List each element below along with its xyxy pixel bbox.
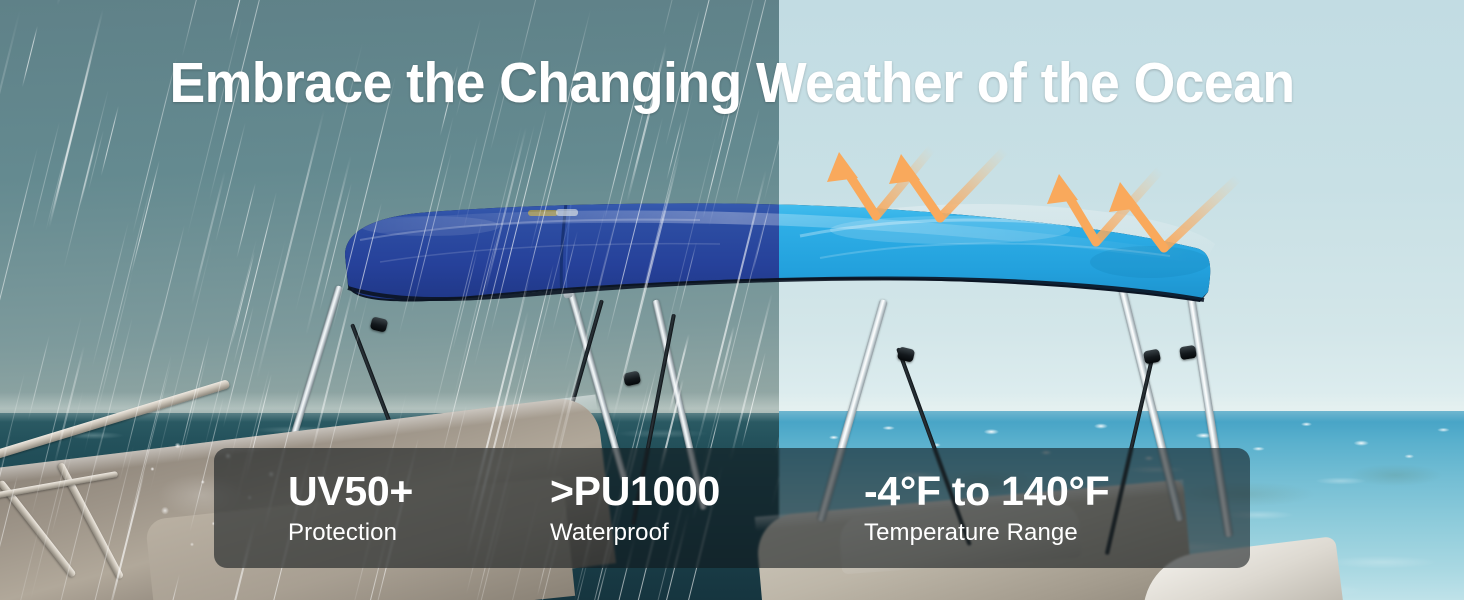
stat-value: -4°F to 140°F (864, 468, 1164, 514)
stat-uv-protection: UV50+ Protection (288, 468, 510, 548)
stat-label: Temperature Range (864, 518, 1164, 548)
stat-label: Waterproof (550, 518, 800, 548)
stat-temperature-range: -4°F to 140°F Temperature Range (864, 468, 1164, 548)
stat-value: UV50+ (288, 468, 510, 514)
stat-label: Protection (288, 518, 510, 548)
bimini-fitting-right-outer (1179, 345, 1197, 360)
stat-waterproof: >PU1000 Waterproof (550, 468, 800, 548)
stat-value: >PU1000 (550, 468, 800, 514)
page-title: Embrace the Changing Weather of the Ocea… (44, 52, 1420, 114)
feature-stats-bar: UV50+ Protection >PU1000 Waterproof -4°F… (214, 448, 1250, 568)
product-feature-banner: Embrace the Changing Weather of the Ocea… (0, 0, 1464, 600)
